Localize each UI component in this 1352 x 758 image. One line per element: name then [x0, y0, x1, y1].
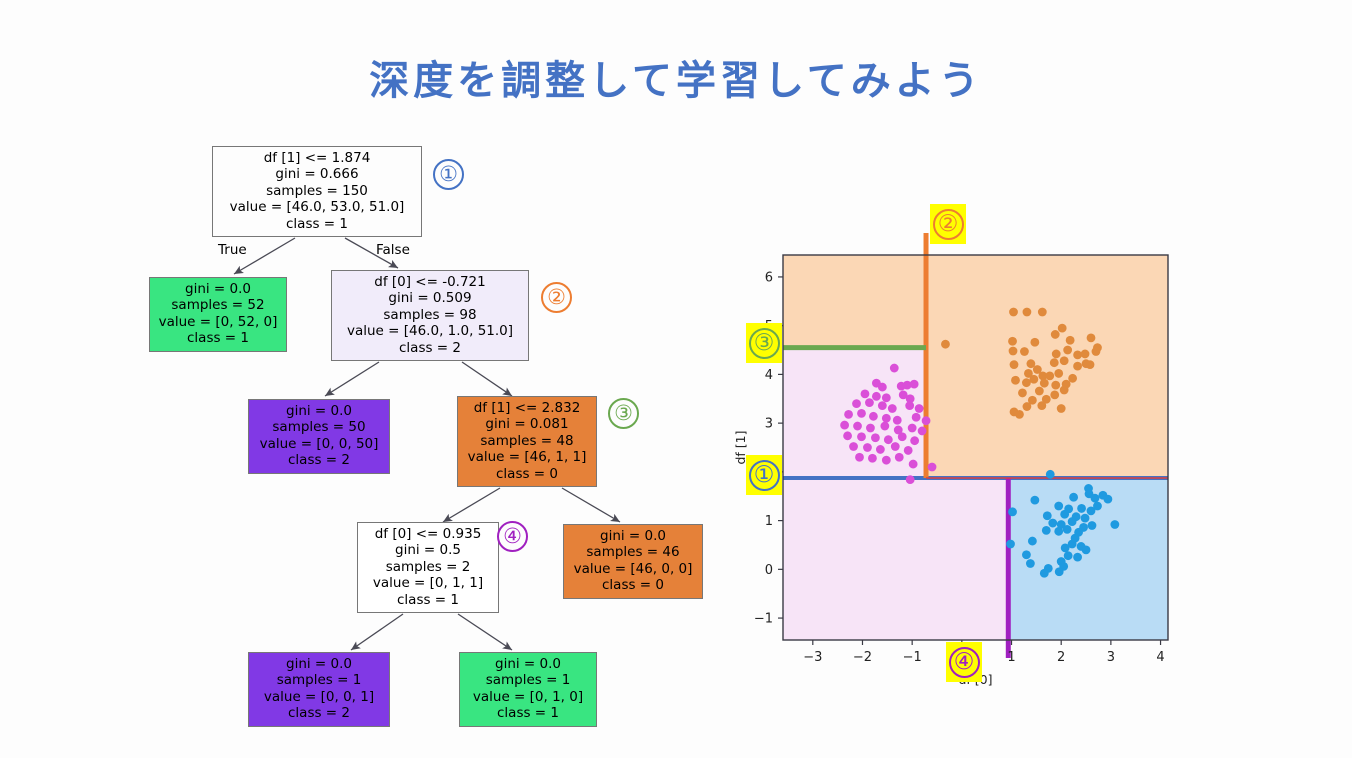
scatter-point — [1088, 521, 1097, 530]
scatter-point — [865, 398, 874, 407]
scatter-point — [882, 393, 891, 402]
scatter-point — [1057, 404, 1066, 413]
node-line: value = [46.0, 53.0, 51.0] — [219, 199, 415, 215]
node-line: samples = 150 — [219, 183, 415, 199]
tree-node-leaf-purple-50[interactable]: gini = 0.0 samples = 50 value = [0, 0, 5… — [248, 399, 390, 474]
plot-marker-2: ② — [933, 209, 964, 240]
scatter-point — [857, 432, 866, 441]
node-line: gini = 0.666 — [219, 166, 415, 182]
scatter-point — [1077, 504, 1086, 513]
node-line: samples = 98 — [338, 307, 522, 323]
scatter-point — [1081, 514, 1090, 523]
node-line: samples = 48 — [464, 433, 590, 449]
scatter-point — [1040, 569, 1049, 578]
scatter-point — [863, 443, 872, 452]
y-tick-label: 0 — [765, 563, 773, 578]
plot-marker-1-highlight: ① — [746, 455, 782, 495]
x-tick-label: 1 — [1007, 650, 1015, 665]
scatter-point — [1060, 386, 1069, 395]
scatter-point — [843, 431, 852, 440]
node-line: gini = 0.0 — [255, 403, 383, 419]
scatter-point — [898, 432, 907, 441]
plot-marker-3: ③ — [749, 328, 780, 359]
y-tick-label: 6 — [765, 270, 773, 285]
scatter-point — [1051, 330, 1060, 339]
scatter-point — [1011, 376, 1020, 385]
scatter-point — [1093, 502, 1102, 511]
scatter-point — [840, 421, 849, 430]
tree-edges — [0, 0, 740, 758]
tree-node-leaf-orange-46[interactable]: gini = 0.0 samples = 46 value = [46, 0, … — [563, 524, 703, 599]
scatter-point — [1023, 402, 1032, 411]
x-tick-label: −1 — [903, 650, 922, 665]
edge-label-false: False — [376, 242, 410, 258]
x-tick-label: 3 — [1107, 650, 1115, 665]
scatter-point — [1054, 502, 1063, 511]
scatter-point — [849, 442, 858, 451]
scatter-point — [1066, 336, 1075, 345]
edge-label-true: True — [218, 242, 247, 258]
scatter-point — [1006, 540, 1015, 549]
tree-marker-4: ④ — [497, 521, 528, 552]
scatter-point — [906, 475, 915, 484]
slide-canvas: 深度を調整して学習してみよう df [1] <= 1.874 — [0, 0, 1352, 758]
y-tick-label: 3 — [765, 417, 773, 432]
scatter-point — [1008, 337, 1017, 346]
scatter-point — [905, 401, 914, 410]
scatter-point — [1050, 358, 1059, 367]
scatter-point — [872, 392, 881, 401]
scatter-point — [1042, 526, 1051, 535]
scatter-point — [891, 442, 900, 451]
node-line: class = 1 — [219, 216, 415, 232]
scatter-point — [878, 383, 887, 392]
scatter-point — [857, 409, 866, 418]
plot-svg: −3−2−101234−10123456df [0]df [1] — [720, 190, 1190, 690]
plot-marker-4-highlight: ④ — [946, 642, 982, 682]
y-tick-label: −1 — [754, 612, 773, 627]
node-line: samples = 50 — [255, 419, 383, 435]
scatter-point — [1060, 510, 1069, 519]
scatter-point — [908, 424, 917, 433]
scatter-point — [1081, 350, 1090, 359]
scatter-point — [1038, 308, 1047, 317]
plot-marker-4: ④ — [949, 647, 980, 678]
scatter-point — [1091, 494, 1100, 503]
scatter-point — [1103, 495, 1112, 504]
scatter-point — [853, 422, 862, 431]
decision-region-plot: −3−2−101234−10123456df [0]df [1] ② ③ ① ④ — [720, 190, 1190, 690]
scatter-point — [928, 463, 937, 472]
scatter-point — [1052, 350, 1061, 359]
scatter-point — [888, 404, 897, 413]
scatter-point — [869, 412, 878, 421]
scatter-point — [1040, 379, 1049, 388]
scatter-point — [882, 414, 891, 423]
scatter-point — [866, 424, 875, 433]
node-line: class = 1 — [466, 705, 590, 721]
node-line: gini = 0.0 — [156, 281, 280, 297]
plot-marker-3-highlight: ③ — [746, 323, 782, 363]
scatter-point — [1086, 360, 1095, 369]
scatter-point — [1037, 401, 1046, 410]
node-line: value = [0, 52, 0] — [156, 314, 280, 330]
scatter-point — [1068, 517, 1077, 526]
node-line: samples = 46 — [570, 544, 696, 560]
node-line: class = 2 — [255, 452, 383, 468]
x-tick-label: −2 — [853, 650, 872, 665]
scatter-point — [1082, 545, 1091, 554]
scatter-point — [1054, 369, 1063, 378]
decision-tree-diagram: df [1] <= 1.874 gini = 0.666 samples = 1… — [0, 0, 740, 758]
tree-marker-1: ① — [433, 159, 464, 190]
scatter-point — [918, 427, 927, 436]
scatter-point — [1023, 308, 1032, 317]
scatter-point — [1110, 520, 1119, 529]
node-line: class = 0 — [464, 466, 590, 482]
scatter-point — [941, 340, 950, 349]
scatter-point — [1026, 559, 1035, 568]
tree-node-leaf-green-1[interactable]: gini = 0.0 samples = 1 value = [0, 1, 0]… — [459, 652, 597, 727]
scatter-point — [1008, 507, 1017, 516]
scatter-point — [1071, 534, 1080, 543]
node-line: df [0] <= -0.721 — [338, 274, 522, 290]
scatter-point — [922, 416, 931, 425]
node-line: samples = 1 — [466, 672, 590, 688]
scatter-point — [910, 436, 919, 445]
node-line: df [0] <= 0.935 — [364, 526, 492, 542]
node-line: value = [0, 0, 1] — [255, 689, 383, 705]
node-line: gini = 0.0 — [570, 528, 696, 544]
node-line: gini = 0.0 — [255, 656, 383, 672]
node-line: df [1] <= 2.832 — [464, 400, 590, 416]
scatter-point — [1022, 550, 1031, 559]
node-line: value = [0, 1, 0] — [466, 689, 590, 705]
node-line: value = [0, 0, 50] — [255, 436, 383, 452]
scatter-point — [1060, 356, 1069, 365]
plot-marker-1: ① — [749, 460, 780, 491]
node-line: samples = 2 — [364, 559, 492, 575]
scatter-point — [1073, 553, 1082, 562]
scatter-point — [861, 389, 870, 398]
scatter-point — [909, 460, 918, 469]
node-line: samples = 1 — [255, 672, 383, 688]
tree-node-leaf-purple-1[interactable]: gini = 0.0 samples = 1 value = [0, 0, 1]… — [248, 652, 390, 727]
scatter-point — [880, 422, 889, 431]
tree-node-leaf-green-52[interactable]: gini = 0.0 samples = 52 value = [0, 52, … — [149, 277, 287, 352]
scatter-point — [855, 453, 864, 462]
node-line: gini = 0.5 — [364, 542, 492, 558]
scatter-point — [1015, 410, 1024, 419]
scatter-point — [1030, 496, 1039, 505]
scatter-point — [882, 456, 891, 465]
node-line: class = 2 — [255, 705, 383, 721]
y-tick-label: 1 — [765, 514, 773, 529]
y-tick-label: 4 — [765, 368, 773, 383]
scatter-point — [1063, 525, 1072, 534]
scatter-point — [1028, 537, 1037, 546]
scatter-point — [912, 413, 921, 422]
node-line: gini = 0.509 — [338, 290, 522, 306]
scatter-point — [910, 380, 919, 389]
tree-node-internal-48[interactable]: df [1] <= 2.832 gini = 0.081 samples = 4… — [457, 396, 597, 487]
scatter-point — [878, 401, 887, 410]
plot-marker-2-highlight: ② — [930, 204, 966, 244]
node-line: df [1] <= 1.874 — [219, 150, 415, 166]
node-line: value = [0, 1, 1] — [364, 575, 492, 591]
scatter-point — [1048, 519, 1057, 528]
scatter-point — [1035, 387, 1044, 396]
scatter-point — [1045, 371, 1054, 380]
scatter-point — [915, 404, 924, 413]
scatter-point — [884, 435, 893, 444]
node-line: class = 1 — [364, 592, 492, 608]
x-tick-label: 4 — [1156, 650, 1164, 665]
scatter-point — [871, 433, 880, 442]
node-line: value = [46.0, 1.0, 51.0] — [338, 323, 522, 339]
scatter-point — [876, 445, 885, 454]
scatter-point — [1022, 378, 1031, 387]
scatter-point — [1073, 362, 1082, 371]
scatter-point — [904, 446, 913, 455]
node-line: class = 1 — [156, 330, 280, 346]
scatter-point — [1055, 567, 1064, 576]
scatter-point — [1051, 381, 1060, 390]
scatter-point — [868, 454, 877, 463]
scatter-point — [1009, 308, 1018, 317]
node-line: class = 0 — [570, 577, 696, 593]
scatter-point — [1020, 347, 1029, 356]
tree-node-internal-98[interactable]: df [0] <= -0.721 gini = 0.509 samples = … — [331, 270, 529, 361]
scatter-point — [1063, 346, 1072, 355]
scatter-point — [1069, 493, 1078, 502]
scatter-point — [1064, 551, 1073, 560]
scatter-point — [1018, 389, 1027, 398]
scatter-point — [1073, 351, 1082, 360]
node-line: value = [46, 0, 0] — [570, 561, 696, 577]
scatter-point — [1043, 511, 1052, 520]
tree-marker-3: ③ — [608, 398, 639, 429]
x-tick-label: 2 — [1057, 650, 1065, 665]
tree-node-root[interactable]: df [1] <= 1.874 gini = 0.666 samples = 1… — [212, 146, 422, 237]
scatter-point — [1050, 390, 1059, 399]
scatter-point — [1030, 338, 1039, 347]
node-line: class = 2 — [338, 340, 522, 356]
scatter-point — [893, 416, 902, 425]
region-class-0-right — [926, 255, 1168, 478]
scatter-point — [1009, 347, 1018, 356]
scatter-point — [1010, 360, 1019, 369]
scatter-point — [1058, 324, 1067, 333]
node-line: value = [46, 1, 1] — [464, 449, 590, 465]
node-line: samples = 52 — [156, 297, 280, 313]
scatter-point — [844, 410, 853, 419]
scatter-point — [852, 399, 861, 408]
scatter-point — [1092, 347, 1101, 356]
tree-node-internal-2[interactable]: df [0] <= 0.935 gini = 0.5 samples = 2 v… — [357, 522, 499, 613]
tree-marker-2: ② — [541, 282, 572, 313]
node-line: gini = 0.081 — [464, 416, 590, 432]
region-class-0-topleft — [783, 255, 926, 348]
scatter-point — [895, 453, 904, 462]
scatter-point — [1087, 333, 1096, 342]
node-line: gini = 0.0 — [466, 656, 590, 672]
scatter-point — [890, 364, 899, 373]
scatter-point — [1046, 470, 1055, 479]
x-tick-label: −3 — [803, 650, 822, 665]
scatter-point — [1054, 527, 1063, 536]
